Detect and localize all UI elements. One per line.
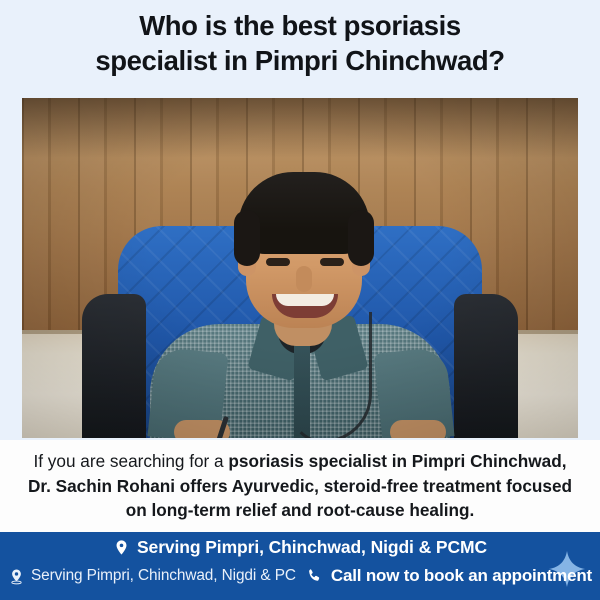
location-pin-icon xyxy=(113,539,130,556)
serving-area-text: Serving Pimpri, Chinchwad, Nigdi & PCMC xyxy=(137,537,487,558)
call-to-action-text: Call now to book an appointment xyxy=(331,566,592,586)
contact-banner: Serving Pimpri, Chinchwad, Nigdi & PCMC … xyxy=(0,532,600,600)
body-copy-lead: If you are searching for a xyxy=(33,451,228,471)
page-title: Who is the best psoriasis specialist in … xyxy=(0,8,600,78)
body-copy-block: If you are searching for a psoriasis spe… xyxy=(0,440,600,532)
doctor-portrait-photo xyxy=(22,98,578,438)
body-copy-text: If you are searching for a psoriasis spe… xyxy=(0,449,600,522)
call-to-action[interactable]: Call now to book an appointment xyxy=(305,566,592,586)
location-pin-outline-icon xyxy=(8,568,25,585)
serving-area-subtext: Serving Pimpri, Chinchwad, Nigdi & PC xyxy=(31,567,296,585)
poster-canvas: Who is the best psoriasis specialist in … xyxy=(0,0,600,600)
serving-area-row: Serving Pimpri, Chinchwad, Nigdi & PCMC xyxy=(0,537,600,558)
serving-area-subrow: Serving Pimpri, Chinchwad, Nigdi & PC xyxy=(8,567,296,585)
phone-handset-icon xyxy=(305,567,323,585)
photo-vignette xyxy=(22,98,578,438)
banner-bottom-row: Serving Pimpri, Chinchwad, Nigdi & PC Ca… xyxy=(0,566,600,586)
